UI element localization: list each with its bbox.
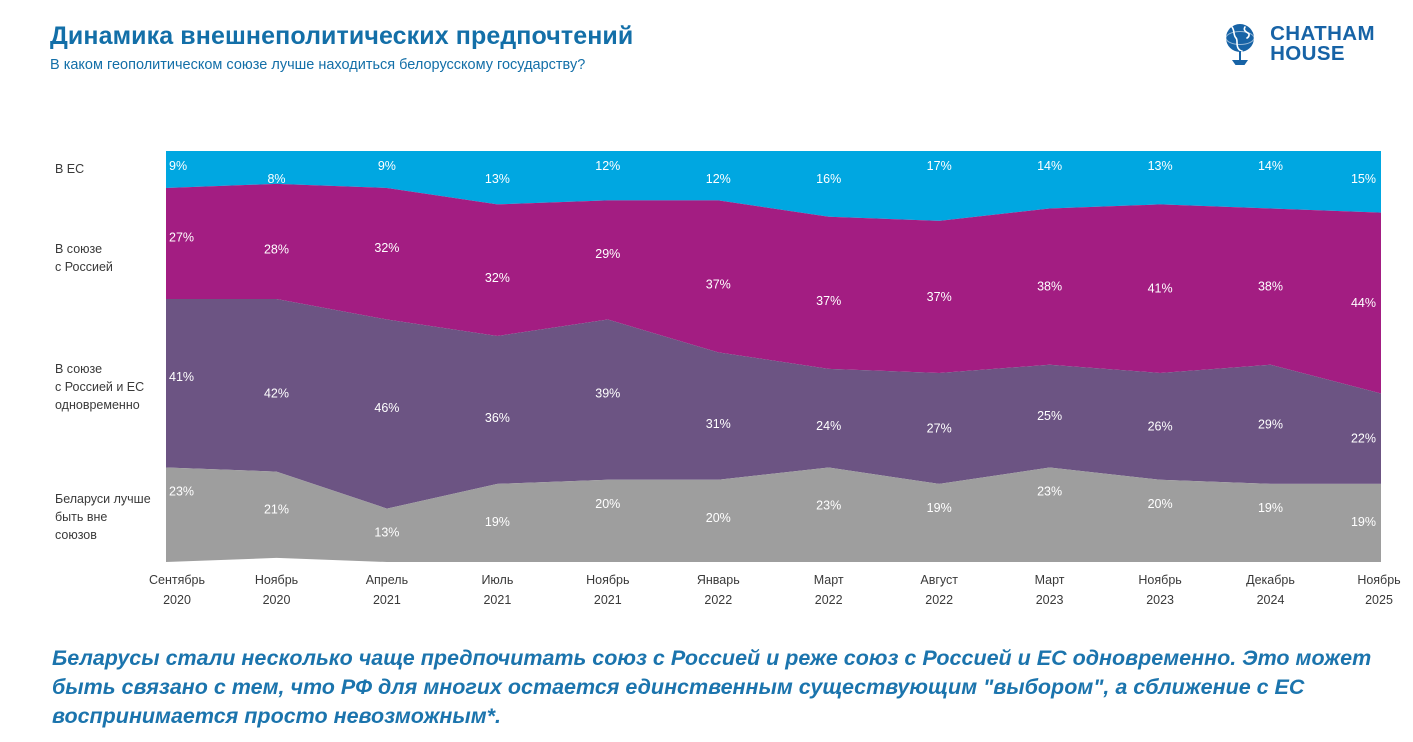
- value-label-eu-4: 12%: [595, 159, 620, 173]
- x-tick-0: Сентябрь2020: [149, 573, 205, 607]
- value-label-eu-11: 15%: [1351, 172, 1376, 186]
- value-label-both-8: 25%: [1037, 409, 1062, 423]
- svg-text:2022: 2022: [815, 593, 843, 607]
- value-label-russia-0: 27%: [169, 231, 194, 245]
- value-label-eu-0: 9%: [169, 159, 187, 173]
- stacked-area-chart: 9%8%9%13%12%12%16%17%14%13%14%15%27%28%3…: [0, 140, 1413, 610]
- value-label-neither-8: 23%: [1037, 485, 1062, 499]
- svg-text:2024: 2024: [1257, 593, 1285, 607]
- page-header: Динамика внешнеполитических предпочтений…: [50, 22, 1150, 74]
- value-label-both-7: 27%: [927, 421, 952, 435]
- value-label-eu-6: 16%: [816, 172, 841, 186]
- value-label-both-9: 26%: [1148, 419, 1173, 433]
- svg-text:2020: 2020: [163, 593, 191, 607]
- chart-caption: Беларусы стали несколько чаще предпочита…: [52, 644, 1392, 730]
- value-label-russia-3: 32%: [485, 271, 510, 285]
- category-label-1: В союзе с Россией: [55, 240, 113, 276]
- x-tick-3: Июль2021: [481, 573, 513, 607]
- svg-text:Апрель: Апрель: [366, 573, 408, 587]
- value-label-both-4: 39%: [595, 387, 620, 401]
- value-label-both-5: 31%: [706, 417, 731, 431]
- chart-canvas: 9%8%9%13%12%12%16%17%14%13%14%15%27%28%3…: [0, 140, 1413, 610]
- svg-text:Ноябрь: Ноябрь: [1357, 573, 1400, 587]
- value-label-russia-2: 32%: [374, 241, 399, 255]
- x-tick-8: Март2023: [1035, 573, 1065, 607]
- value-label-neither-2: 13%: [374, 526, 399, 540]
- value-label-neither-7: 19%: [927, 501, 952, 515]
- svg-text:Сентябрь: Сентябрь: [149, 573, 205, 587]
- category-label-0: В ЕС: [55, 160, 84, 178]
- value-label-russia-9: 41%: [1148, 282, 1173, 296]
- value-label-neither-3: 19%: [485, 515, 510, 529]
- value-label-eu-1: 8%: [267, 172, 285, 186]
- x-tick-5: Январь2022: [697, 573, 740, 607]
- category-label-3: Беларуси лучше быть вне союзов: [55, 490, 151, 544]
- value-label-both-0: 41%: [169, 370, 194, 384]
- value-label-both-2: 46%: [374, 401, 399, 415]
- svg-text:2020: 2020: [263, 593, 291, 607]
- x-tick-9: Ноябрь2023: [1138, 573, 1181, 607]
- value-label-neither-5: 20%: [706, 511, 731, 525]
- svg-text:Ноябрь: Ноябрь: [255, 573, 298, 587]
- x-tick-10: Декабрь2024: [1246, 573, 1295, 607]
- value-label-neither-9: 20%: [1148, 497, 1173, 511]
- value-label-both-1: 42%: [264, 386, 289, 400]
- value-label-russia-8: 38%: [1037, 280, 1062, 294]
- logo-wordmark: CHATHAM HOUSE: [1270, 24, 1375, 63]
- svg-text:Январь: Январь: [697, 573, 740, 587]
- value-label-both-10: 29%: [1258, 417, 1283, 431]
- value-label-both-11: 22%: [1351, 432, 1376, 446]
- page-subtitle: В каком геополитическом союзе лучше нахо…: [50, 57, 1150, 74]
- globe-icon: [1219, 22, 1261, 66]
- svg-text:2025: 2025: [1365, 593, 1393, 607]
- x-tick-2: Апрель2021: [366, 573, 408, 607]
- x-tick-4: Ноябрь2021: [586, 573, 629, 607]
- svg-text:2021: 2021: [483, 593, 511, 607]
- value-label-russia-1: 28%: [264, 242, 289, 256]
- svg-text:2022: 2022: [704, 593, 732, 607]
- value-label-eu-7: 17%: [927, 159, 952, 173]
- value-label-eu-10: 14%: [1258, 159, 1283, 173]
- value-label-eu-2: 9%: [378, 159, 396, 173]
- svg-text:Июль: Июль: [481, 573, 513, 587]
- value-label-neither-0: 23%: [169, 485, 194, 499]
- x-tick-11: Ноябрь2025: [1357, 573, 1400, 607]
- svg-text:Март: Март: [814, 573, 844, 587]
- svg-text:2022: 2022: [925, 593, 953, 607]
- page-title: Динамика внешнеполитических предпочтений: [50, 22, 1150, 51]
- svg-text:2023: 2023: [1146, 593, 1174, 607]
- value-label-russia-5: 37%: [706, 277, 731, 291]
- x-tick-7: Август2022: [920, 573, 958, 607]
- value-label-neither-11: 19%: [1351, 515, 1376, 529]
- value-label-russia-7: 37%: [927, 290, 952, 304]
- logo-line-2: HOUSE: [1270, 44, 1375, 64]
- value-label-neither-1: 21%: [264, 503, 289, 517]
- value-label-eu-8: 14%: [1037, 159, 1062, 173]
- value-label-neither-4: 20%: [595, 497, 620, 511]
- value-label-russia-6: 37%: [816, 294, 841, 308]
- svg-text:2021: 2021: [594, 593, 622, 607]
- x-tick-6: Март2022: [814, 573, 844, 607]
- value-label-neither-6: 23%: [816, 499, 841, 513]
- value-label-both-6: 24%: [816, 419, 841, 433]
- value-label-russia-4: 29%: [595, 247, 620, 261]
- svg-text:Август: Август: [920, 573, 958, 587]
- svg-text:Ноябрь: Ноябрь: [1138, 573, 1181, 587]
- value-label-russia-10: 38%: [1258, 280, 1283, 294]
- svg-text:Ноябрь: Ноябрь: [586, 573, 629, 587]
- value-label-eu-9: 13%: [1148, 159, 1173, 173]
- svg-text:Декабрь: Декабрь: [1246, 573, 1295, 587]
- svg-text:2021: 2021: [373, 593, 401, 607]
- category-label-2: В союзе с Россией и ЕС одновременно: [55, 360, 144, 414]
- svg-text:Март: Март: [1035, 573, 1065, 587]
- x-tick-1: Ноябрь2020: [255, 573, 298, 607]
- svg-text:2023: 2023: [1036, 593, 1064, 607]
- value-label-neither-10: 19%: [1258, 501, 1283, 515]
- chatham-house-logo: CHATHAM HOUSE: [1219, 22, 1375, 66]
- value-label-eu-3: 13%: [485, 172, 510, 186]
- value-label-russia-11: 44%: [1351, 296, 1376, 310]
- value-label-both-3: 36%: [485, 411, 510, 425]
- value-label-eu-5: 12%: [706, 172, 731, 186]
